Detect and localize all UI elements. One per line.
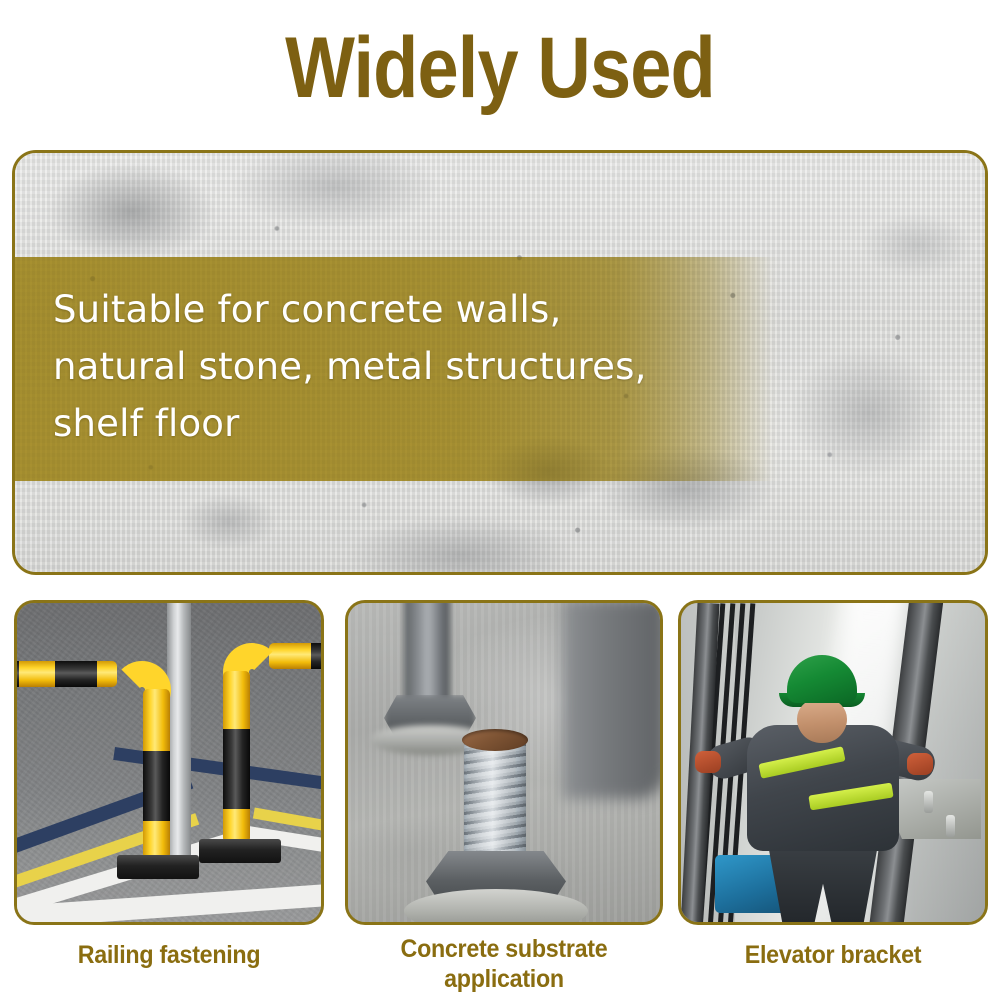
hero-line-1: Suitable for concrete walls,: [53, 281, 783, 338]
caption-line: Railing fastening: [25, 940, 313, 970]
photo-card-concrete-substrate: [345, 600, 663, 925]
hero-line-2: natural stone, metal structures,: [53, 338, 783, 395]
infographic-page: Widely Used Suitable for concrete walls,…: [0, 0, 1000, 1000]
caption-line: Concrete substrate: [356, 934, 652, 964]
worker-glove-left: [695, 751, 721, 773]
bracket-bolt-2: [946, 815, 955, 837]
bollard-photo: [17, 603, 321, 922]
photo-card-elevator-bracket: [678, 600, 988, 925]
worker-glove-right: [907, 753, 933, 775]
bolt-top-face: [462, 729, 528, 751]
hero-description: Suitable for concrete walls, natural sto…: [53, 281, 783, 452]
hero-panel: Suitable for concrete walls, natural sto…: [12, 150, 988, 575]
caption-row: Railing fastening Concrete substrate app…: [0, 934, 1000, 996]
page-title: Widely Used: [70, 22, 930, 114]
background-column-blurred: [562, 600, 663, 799]
caption-concrete-substrate: Concrete substrate application: [345, 934, 663, 994]
photo-card-row: [0, 600, 1000, 925]
worker-face: [797, 699, 847, 743]
caption-railing-fastening: Railing fastening: [14, 940, 324, 970]
bracket-bolt-1: [924, 791, 933, 813]
caption-line: application: [356, 964, 652, 994]
photo-card-railing-fastening: [14, 600, 324, 925]
metal-pole: [167, 603, 191, 871]
anchor-bolt-photo: [348, 603, 660, 922]
hero-line-3: shelf floor: [53, 395, 783, 452]
washer-plate: [404, 889, 588, 925]
caption-line: Elevator bracket: [689, 940, 977, 970]
elevator-shaft-photo: [681, 603, 985, 922]
caption-elevator-bracket: Elevator bracket: [678, 940, 988, 970]
